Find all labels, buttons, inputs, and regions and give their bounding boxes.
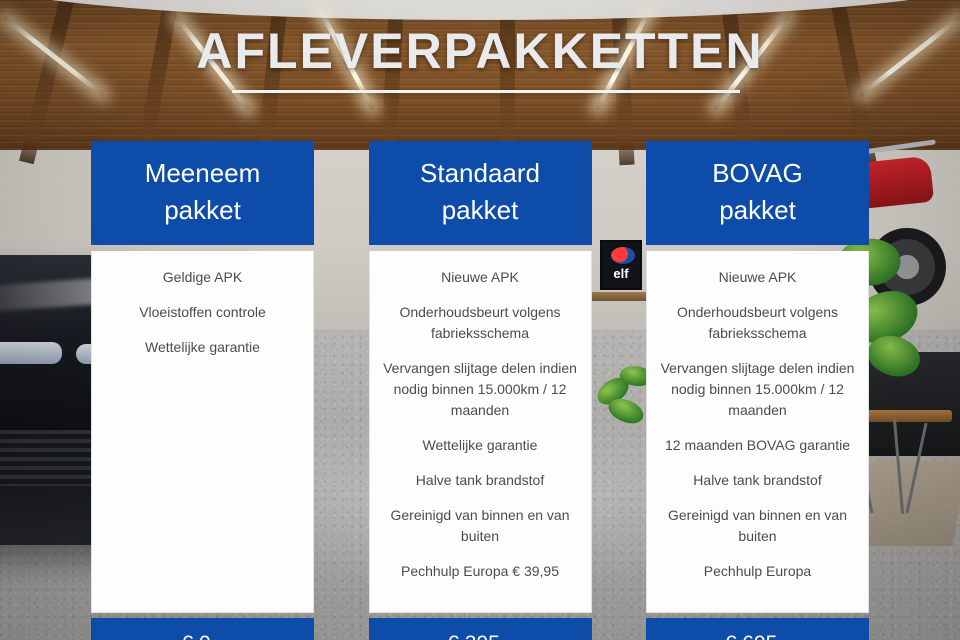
package-feature: Nieuwe APK xyxy=(659,267,856,288)
promo-content: AFLEVERPAKKETTEN Meeneem pakket Geldige … xyxy=(0,0,960,640)
package-feature: Pechhulp Europa xyxy=(659,561,856,582)
package-card-standaard[interactable]: Standaard pakket Nieuwe APK Onderhoudsbe… xyxy=(369,141,592,640)
package-price: € 695,- xyxy=(646,618,869,640)
package-title-line2: pakket xyxy=(377,192,584,229)
package-feature: Gereinigd van binnen en van buiten xyxy=(382,505,579,547)
package-feature: 12 maanden BOVAG garantie xyxy=(659,435,856,456)
package-price: € 395,- xyxy=(369,618,592,640)
package-feature: Gereinigd van binnen en van buiten xyxy=(659,505,856,547)
package-card-list: Meeneem pakket Geldige APK Vloeistoffen … xyxy=(91,141,869,640)
package-feature: Pechhulp Europa € 39,95 xyxy=(382,561,579,582)
package-feature: Onderhoudsbeurt volgens fabrieksschema xyxy=(382,302,579,344)
package-feature: Geldige APK xyxy=(104,267,301,288)
package-feature-list: Nieuwe APK Onderhoudsbeurt volgens fabri… xyxy=(646,251,869,613)
package-feature: Halve tank brandstof xyxy=(659,470,856,491)
promo-page: elf AFLEVERPAKKETTEN Meeneem pakket Geld… xyxy=(0,0,960,640)
package-card-header: BOVAG pakket xyxy=(646,141,869,245)
package-feature: Wettelijke garantie xyxy=(104,337,301,358)
page-title: AFLEVERPAKKETTEN xyxy=(0,22,960,80)
package-feature: Vervangen slijtage delen indien nodig bi… xyxy=(382,358,579,421)
package-feature: Onderhoudsbeurt volgens fabrieksschema xyxy=(659,302,856,344)
package-feature-list: Geldige APK Vloeistoffen controle Wettel… xyxy=(91,251,314,613)
package-card-header: Meeneem pakket xyxy=(91,141,314,245)
package-title-line2: pakket xyxy=(654,192,861,229)
package-card-meeneem[interactable]: Meeneem pakket Geldige APK Vloeistoffen … xyxy=(91,141,314,640)
package-feature: Vloeistoffen controle xyxy=(104,302,301,323)
package-price: € 0,- xyxy=(91,618,314,640)
package-title-line1: Meeneem xyxy=(99,155,306,192)
package-card-header: Standaard pakket xyxy=(369,141,592,245)
package-card-bovag[interactable]: BOVAG pakket Nieuwe APK Onderhoudsbeurt … xyxy=(646,141,869,640)
package-feature: Wettelijke garantie xyxy=(382,435,579,456)
package-feature: Vervangen slijtage delen indien nodig bi… xyxy=(659,358,856,421)
package-feature: Nieuwe APK xyxy=(382,267,579,288)
package-feature-list: Nieuwe APK Onderhoudsbeurt volgens fabri… xyxy=(369,251,592,613)
package-title-line2: pakket xyxy=(99,192,306,229)
package-feature: Halve tank brandstof xyxy=(382,470,579,491)
title-underline xyxy=(232,90,740,93)
package-title-line1: Standaard xyxy=(377,155,584,192)
package-title-line1: BOVAG xyxy=(654,155,861,192)
